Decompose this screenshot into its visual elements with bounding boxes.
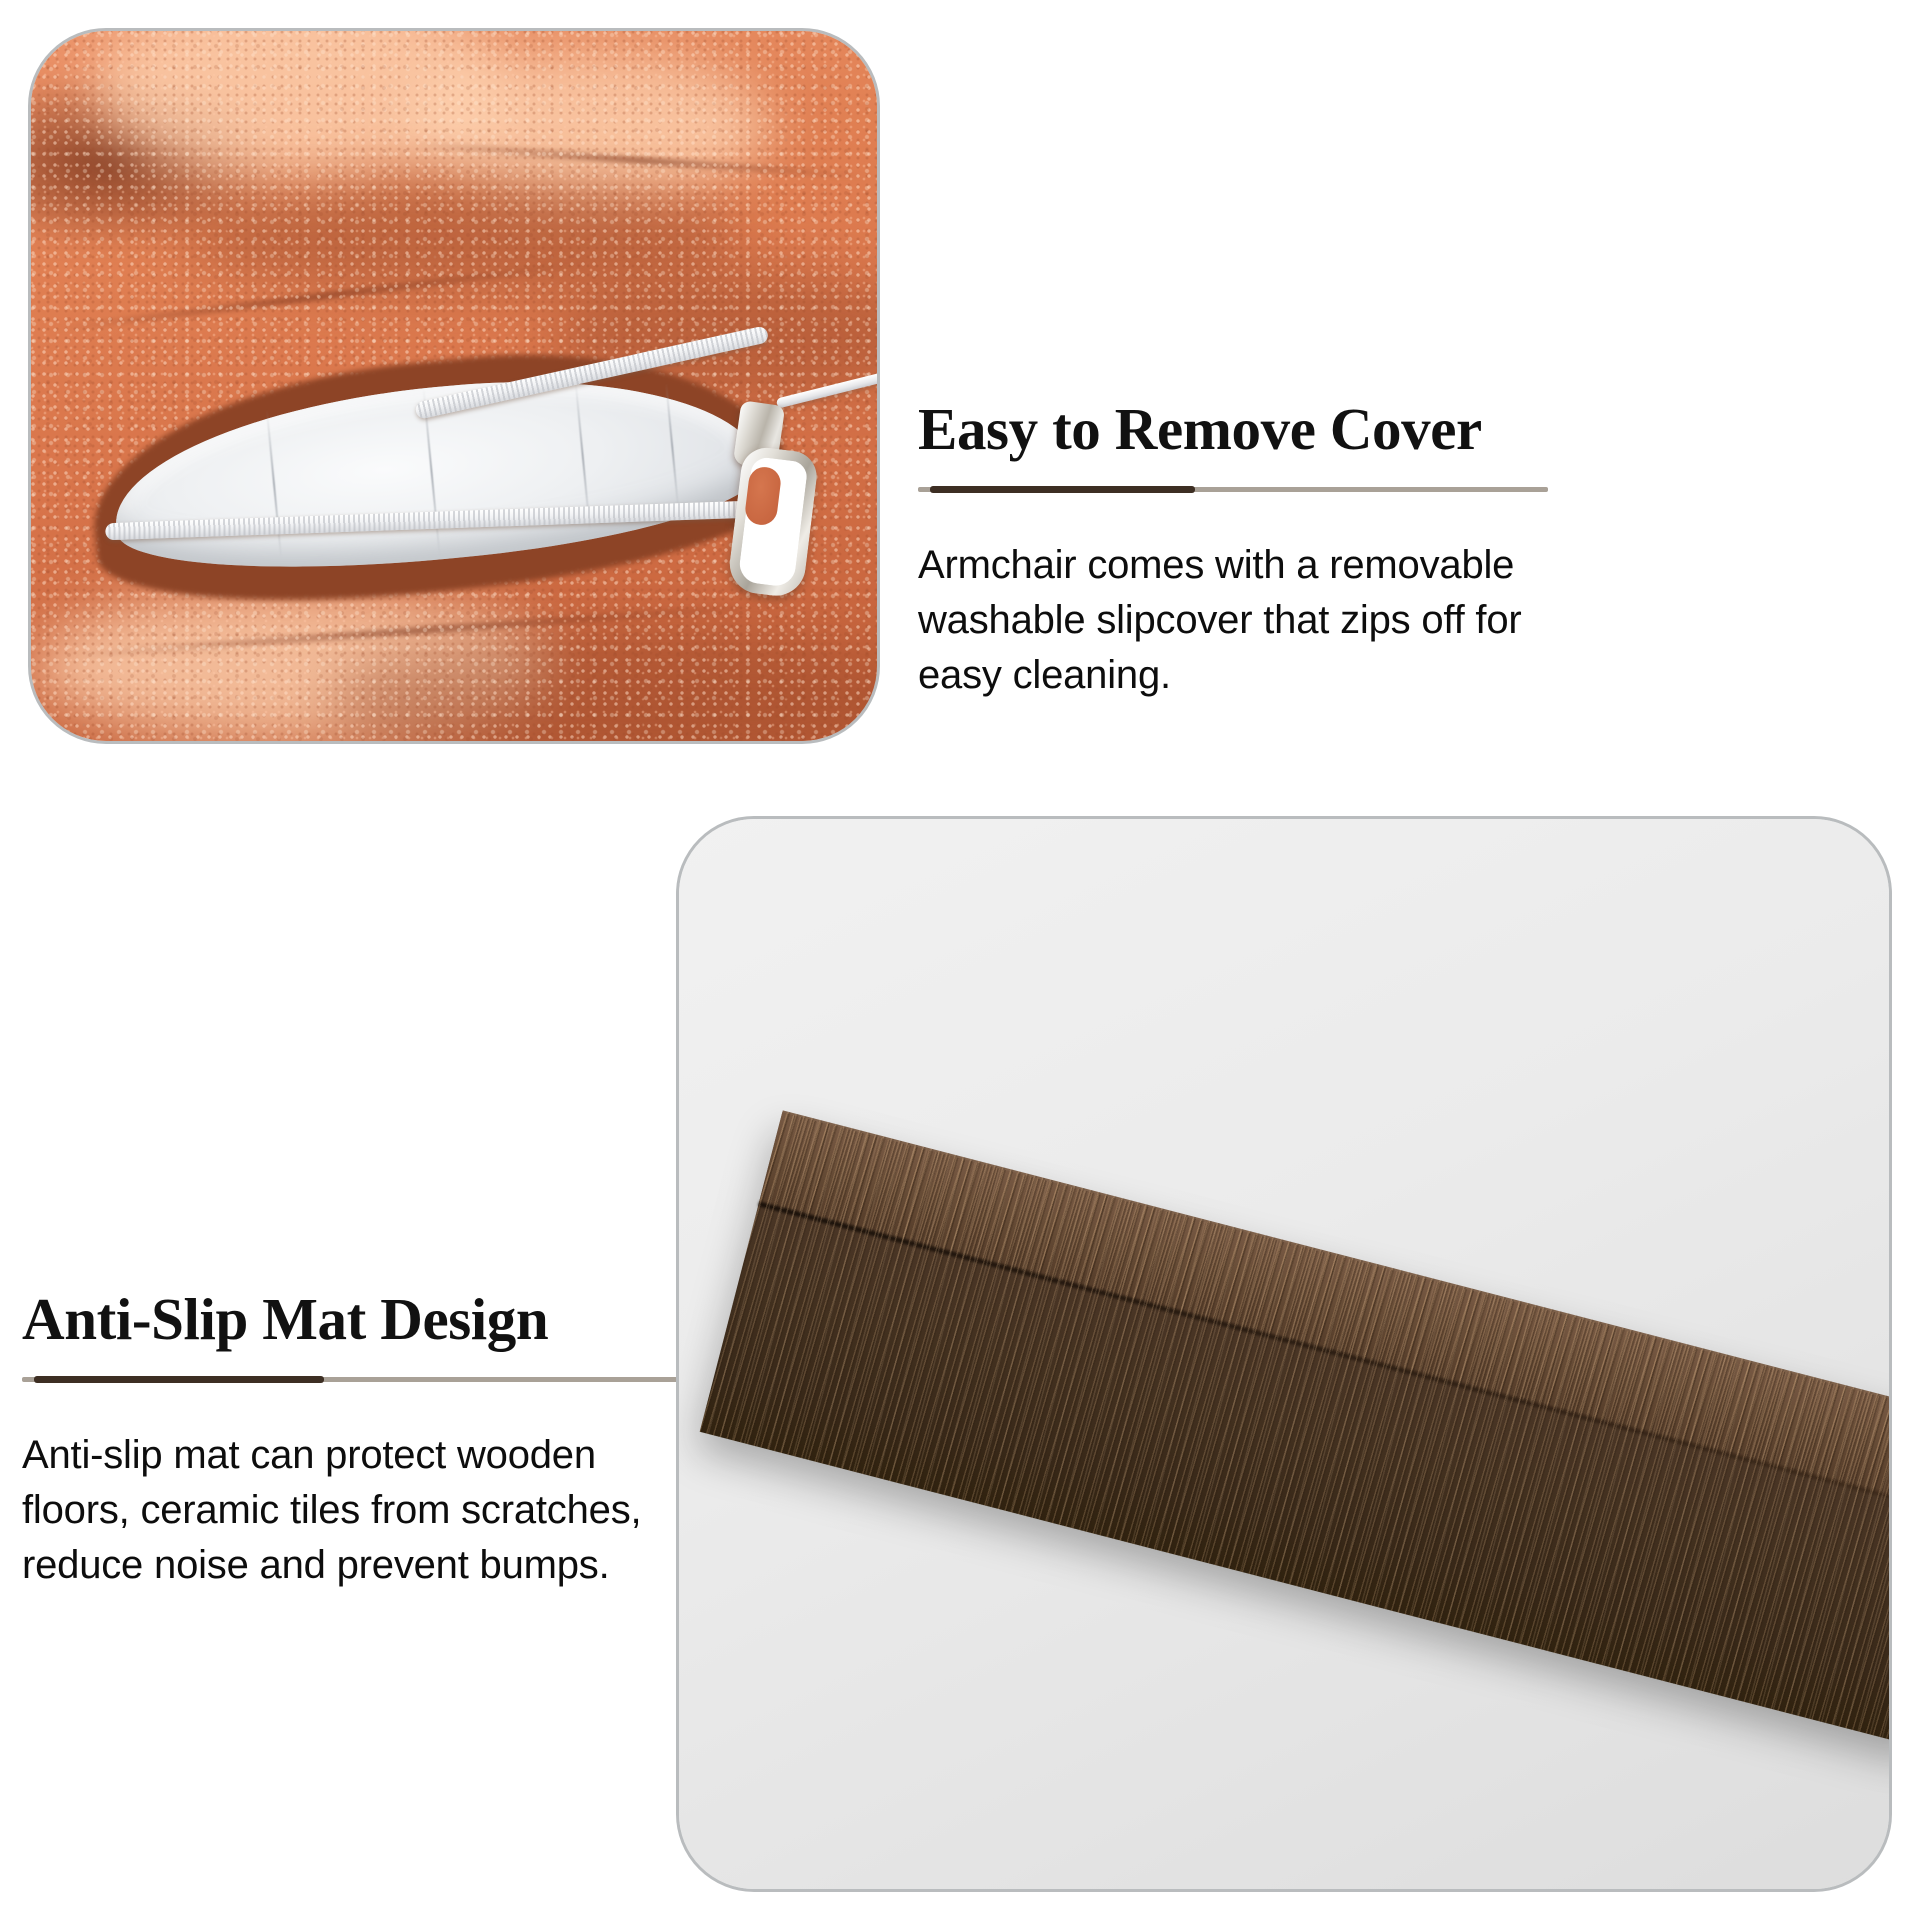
cushion-crease <box>665 383 679 511</box>
feature-image-easy-to-remove-cover <box>28 28 880 744</box>
title-divider <box>918 487 1548 492</box>
title-divider <box>22 1377 712 1382</box>
feature-body-easy-to-remove-cover: Armchair comes with a removable washable… <box>918 538 1548 704</box>
cushion-crease <box>266 409 282 559</box>
feature-text-easy-to-remove-cover: Easy to Remove Cover Armchair comes with… <box>918 398 1548 703</box>
feature-title-easy-to-remove-cover: Easy to Remove Cover <box>918 398 1548 461</box>
feature-title-anti-slip-mat-design: Anti-Slip Mat Design <box>22 1288 712 1351</box>
infographic-canvas: Easy to Remove Cover Armchair comes with… <box>0 0 1920 1920</box>
feature-body-anti-slip-mat-design: Anti-slip mat can protect wooden floors,… <box>22 1428 712 1594</box>
feature-image-anti-slip-mat-design <box>676 816 1892 1892</box>
feature-text-anti-slip-mat-design: Anti-Slip Mat Design Anti-slip mat can p… <box>22 1288 712 1593</box>
